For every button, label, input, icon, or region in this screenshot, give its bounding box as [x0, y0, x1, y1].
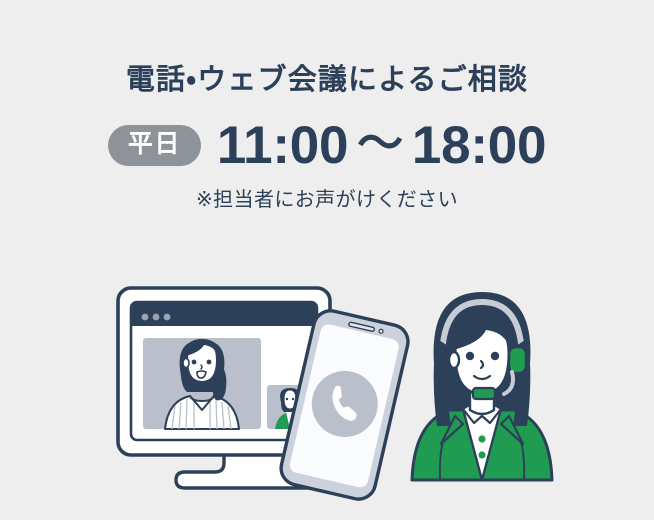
- woman-mouth: [197, 371, 206, 378]
- operator-ear-left: [449, 352, 459, 368]
- illustration-svg: [0, 268, 654, 520]
- titlebar-dot-3: [164, 314, 171, 321]
- consultation-hours-banner: 電話・ウェブ会議によるご相談 平日 11:00 〜 18:00 ※担当者にお声が…: [0, 0, 654, 520]
- woman-eye-left: [192, 360, 197, 365]
- start-time: 11:00: [217, 119, 348, 172]
- end-time: 18:00: [412, 119, 546, 172]
- note-text: ※担当者にお声がけください: [196, 190, 458, 210]
- window-titlebar: [131, 302, 317, 326]
- headset-mic-icon: [473, 388, 495, 399]
- pip-eye-left: [286, 398, 288, 400]
- operator-eye-right: [491, 352, 499, 360]
- phone-camera: [379, 329, 384, 334]
- woman-eye-right: [207, 360, 212, 365]
- illustration: [0, 268, 654, 520]
- operator-eye-left: [466, 352, 474, 360]
- headset-earcup-icon: [509, 347, 526, 373]
- pip-eye-right: [292, 398, 294, 400]
- page-title: 電話・ウェブ会議によるご相談: [126, 66, 528, 95]
- operator-button-2: [478, 451, 485, 458]
- time-range-separator: 〜: [357, 120, 403, 166]
- hours-value: 11:00 〜 18:00: [217, 119, 546, 172]
- woman-ear-left: [183, 359, 189, 368]
- titlebar-dot-2: [153, 314, 160, 321]
- video-tile-main: [143, 338, 261, 429]
- titlebar-dot-1: [142, 314, 149, 321]
- operator-button-1: [478, 435, 485, 442]
- status-badge: 平日: [108, 125, 201, 166]
- business-hours-row: 平日 11:00 〜 18:00: [108, 119, 546, 172]
- operator: [412, 292, 552, 480]
